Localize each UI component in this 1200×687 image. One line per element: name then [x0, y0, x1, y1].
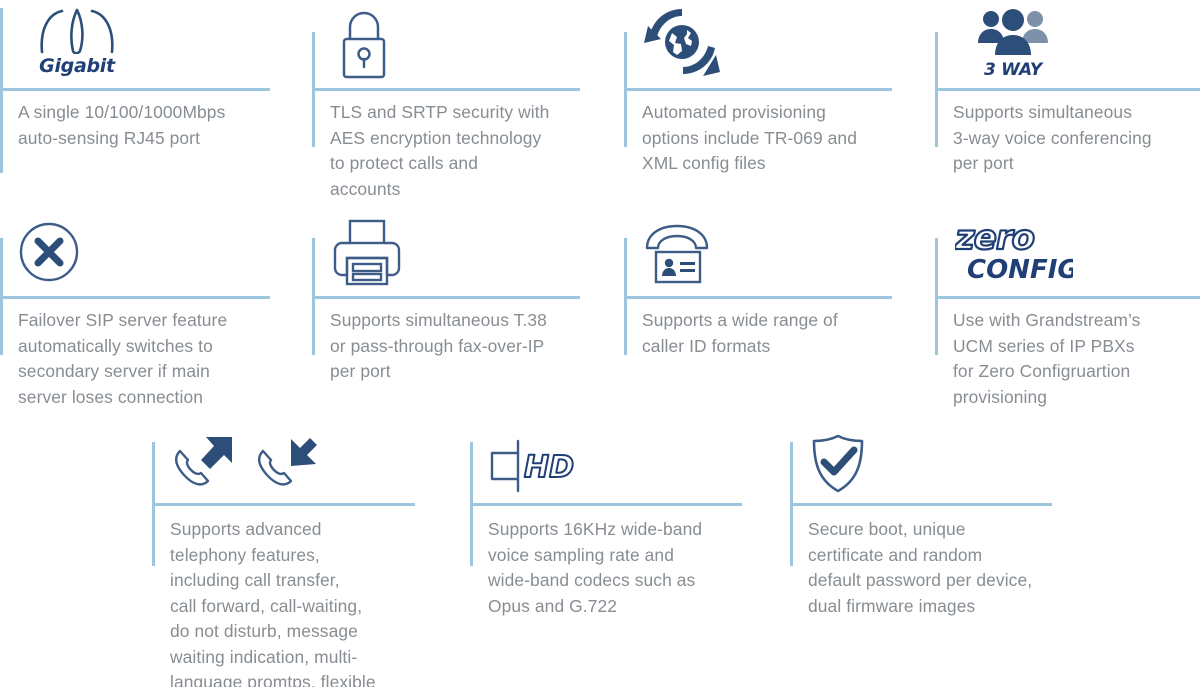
- card-horizontal-rule: [624, 88, 892, 91]
- feature-card-failover-sip-server: Failover SIP server feature automaticall…: [0, 208, 270, 408]
- feature-grid: Gigabit A single 10/100/1000Mbps auto-se…: [0, 0, 1200, 687]
- card-horizontal-rule: [935, 296, 1200, 299]
- feature-description: Supports simultaneous 3-way voice confer…: [953, 100, 1200, 177]
- feature-card-three-way-conferencing: 3 WAY Supports simultaneous 3-way voice …: [935, 0, 1200, 195]
- feature-card-zero-config: zero CONFIG Use with Grandstream’s UCM s…: [935, 208, 1200, 408]
- call-transfer-forward-icon: [170, 429, 330, 499]
- handset-id-card-icon: [644, 218, 740, 292]
- card-horizontal-rule: [312, 88, 580, 91]
- shield-check-icon: [810, 429, 906, 499]
- gigabit-wordmark: Gigabit: [39, 55, 115, 77]
- feature-description: Supports a wide range of caller ID forma…: [642, 308, 892, 359]
- card-horizontal-rule: [152, 503, 415, 506]
- three-people-icon: 3 WAY: [959, 2, 1067, 84]
- card-horizontal-rule: [935, 88, 1200, 91]
- card-horizontal-rule: [312, 296, 580, 299]
- circle-x-icon: [18, 212, 108, 292]
- feature-description: Supports advanced telephony features, in…: [170, 517, 418, 687]
- card-horizontal-rule: [624, 296, 892, 299]
- feature-description: TLS and SRTP security with AES encryptio…: [330, 100, 580, 202]
- three-way-wordmark: 3 WAY: [984, 60, 1042, 80]
- feature-description: Secure boot, unique certificate and rand…: [808, 517, 1064, 619]
- card-horizontal-rule: [470, 503, 742, 506]
- feature-card-fax-over-ip: Supports simultaneous T.38 or pass-throu…: [312, 208, 580, 408]
- feature-description: Supports 16KHz wide-band voice sampling …: [488, 517, 740, 619]
- feature-card-secure-boot: Secure boot, unique certificate and rand…: [790, 425, 1052, 625]
- svg-text:HD: HD: [524, 450, 574, 485]
- feature-card-caller-id-formats: Supports a wide range of caller ID forma…: [624, 208, 892, 408]
- feature-card-gigabit-port: Gigabit A single 10/100/1000Mbps auto-se…: [0, 0, 270, 195]
- globe-refresh-icon: [642, 0, 738, 84]
- card-horizontal-rule: [790, 503, 1052, 506]
- zero-config-wordmark-icon: zero CONFIG: [955, 222, 1095, 292]
- feature-description: Automated provisioning options include T…: [642, 100, 894, 177]
- feature-description: Use with Grandstream’s UCM series of IP …: [953, 308, 1200, 410]
- feature-card-hd-voice: HD Supports 16KHz wide-band voice sampli…: [470, 425, 742, 625]
- padlock-icon: [334, 6, 424, 84]
- feature-description: Failover SIP server feature automaticall…: [18, 308, 268, 410]
- gigabit-wave-icon: Gigabit: [22, 0, 132, 84]
- card-horizontal-rule: [0, 88, 270, 91]
- svg-text:zero: zero: [955, 222, 1035, 258]
- feature-card-automated-provisioning: Automated provisioning options include T…: [624, 0, 892, 195]
- feature-description: Supports simultaneous T.38 or pass-throu…: [330, 308, 586, 385]
- card-horizontal-rule: [0, 296, 270, 299]
- feature-card-tls-srtp-security: TLS and SRTP security with AES encryptio…: [312, 0, 580, 195]
- feature-description: A single 10/100/1000Mbps auto-sensing RJ…: [18, 100, 268, 151]
- hd-speaker-icon: HD: [488, 433, 608, 499]
- printer-fax-icon: [332, 214, 428, 292]
- feature-card-advanced-telephony: Supports advanced telephony features, in…: [152, 425, 415, 687]
- svg-text:CONFIG: CONFIG: [967, 255, 1073, 284]
